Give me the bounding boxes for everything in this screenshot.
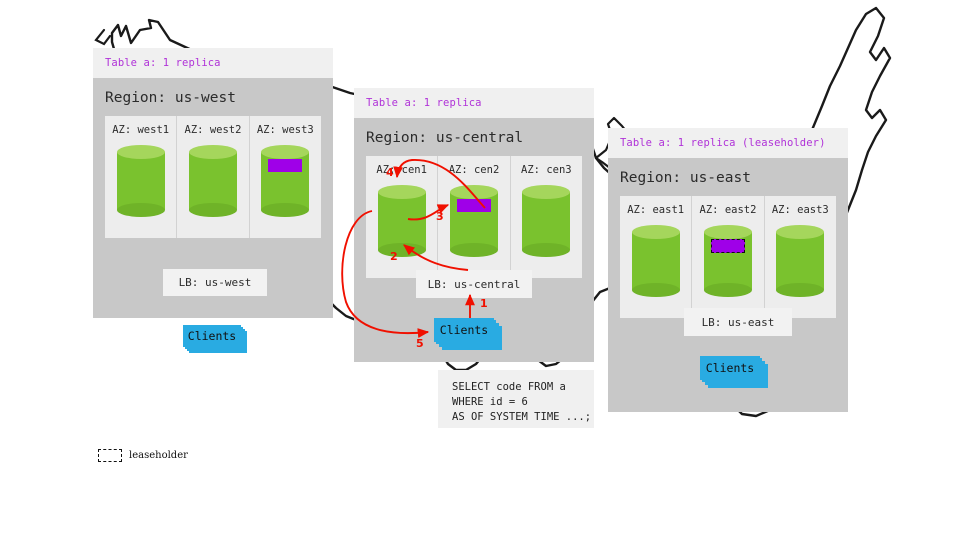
replica-cylinder-east3[interactable] xyxy=(776,225,824,297)
replica-cylinder-cen2[interactable] xyxy=(450,185,498,257)
az-label: AZ: cen2 xyxy=(449,164,500,176)
clients-label-us-east: Clients xyxy=(700,356,760,380)
region-panel-us-central: Table a: 1 replica Region: us-central AZ… xyxy=(354,88,594,362)
replica-marker-west3[interactable] xyxy=(268,159,302,172)
az-east1[interactable]: AZ: east1 xyxy=(620,196,692,318)
region-header-us-west: Table a: 1 replica xyxy=(93,48,333,78)
region-header-us-east: Table a: 1 replica (leaseholder) xyxy=(608,128,848,158)
az-label: AZ: west2 xyxy=(185,124,242,136)
load-balancer-us-central[interactable]: LB: us-central xyxy=(416,270,532,298)
region-title-us-east: Region: us-east xyxy=(608,158,848,196)
replica-cylinder-west1[interactable] xyxy=(117,145,165,217)
step-number-2: 2 xyxy=(390,250,398,263)
az-label: AZ: west1 xyxy=(112,124,169,136)
clients-us-west[interactable]: Clients xyxy=(183,325,249,355)
az-cen1[interactable]: AZ: cen1 xyxy=(366,156,438,278)
az-row-us-central: AZ: cen1 AZ: cen2 AZ: cen3 xyxy=(366,156,582,278)
clients-label-us-west: Clients xyxy=(183,325,241,347)
az-west1[interactable]: AZ: west1 xyxy=(105,116,177,238)
az-label: AZ: east1 xyxy=(627,204,684,216)
az-west2[interactable]: AZ: west2 xyxy=(177,116,249,238)
az-east2[interactable]: AZ: east2 xyxy=(692,196,764,318)
region-header-us-central: Table a: 1 replica xyxy=(354,88,594,118)
replica-cylinder-cen3[interactable] xyxy=(522,185,570,257)
region-panel-us-east: Table a: 1 replica (leaseholder) Region:… xyxy=(608,128,848,412)
leaseholder-swatch-icon xyxy=(98,449,122,462)
replica-cylinder-east1[interactable] xyxy=(632,225,680,297)
region-panel-us-west: Table a: 1 replica Region: us-west AZ: w… xyxy=(93,48,333,318)
clients-us-central[interactable]: Clients xyxy=(434,318,506,350)
replica-cylinder-east2[interactable] xyxy=(704,225,752,297)
load-balancer-us-west[interactable]: LB: us-west xyxy=(163,269,267,296)
load-balancer-us-east[interactable]: LB: us-east xyxy=(684,308,792,336)
az-cen2[interactable]: AZ: cen2 xyxy=(438,156,510,278)
step-number-5: 5 xyxy=(416,337,424,350)
replica-cylinder-cen1[interactable] xyxy=(378,185,426,257)
az-label: AZ: east2 xyxy=(700,204,757,216)
sql-query-box: SELECT code FROM a WHERE id = 6 AS OF SY… xyxy=(438,370,594,428)
leaseholder-marker-east2[interactable] xyxy=(711,239,745,253)
clients-label-us-central: Clients xyxy=(434,318,494,342)
az-label: AZ: cen3 xyxy=(521,164,572,176)
legend: leaseholder xyxy=(98,449,188,462)
az-row-us-east: AZ: east1 AZ: east2 AZ: east3 xyxy=(620,196,836,318)
az-label: AZ: cen1 xyxy=(376,164,427,176)
legend-label: leaseholder xyxy=(129,450,188,461)
clients-us-east[interactable]: Clients xyxy=(700,356,772,388)
step-number-1: 1 xyxy=(480,297,488,310)
region-title-us-central: Region: us-central xyxy=(354,118,594,156)
replica-marker-cen2[interactable] xyxy=(457,199,491,212)
az-west3[interactable]: AZ: west3 xyxy=(250,116,321,238)
az-east3[interactable]: AZ: east3 xyxy=(765,196,836,318)
az-label: AZ: west3 xyxy=(257,124,314,136)
az-cen3[interactable]: AZ: cen3 xyxy=(511,156,582,278)
step-number-4: 4 xyxy=(386,166,394,179)
replica-cylinder-west2[interactable] xyxy=(189,145,237,217)
replica-cylinder-west3[interactable] xyxy=(261,145,309,217)
az-row-us-west: AZ: west1 AZ: west2 AZ: west3 xyxy=(105,116,321,238)
region-title-us-west: Region: us-west xyxy=(93,78,333,116)
step-number-3: 3 xyxy=(436,210,444,223)
az-label: AZ: east3 xyxy=(772,204,829,216)
